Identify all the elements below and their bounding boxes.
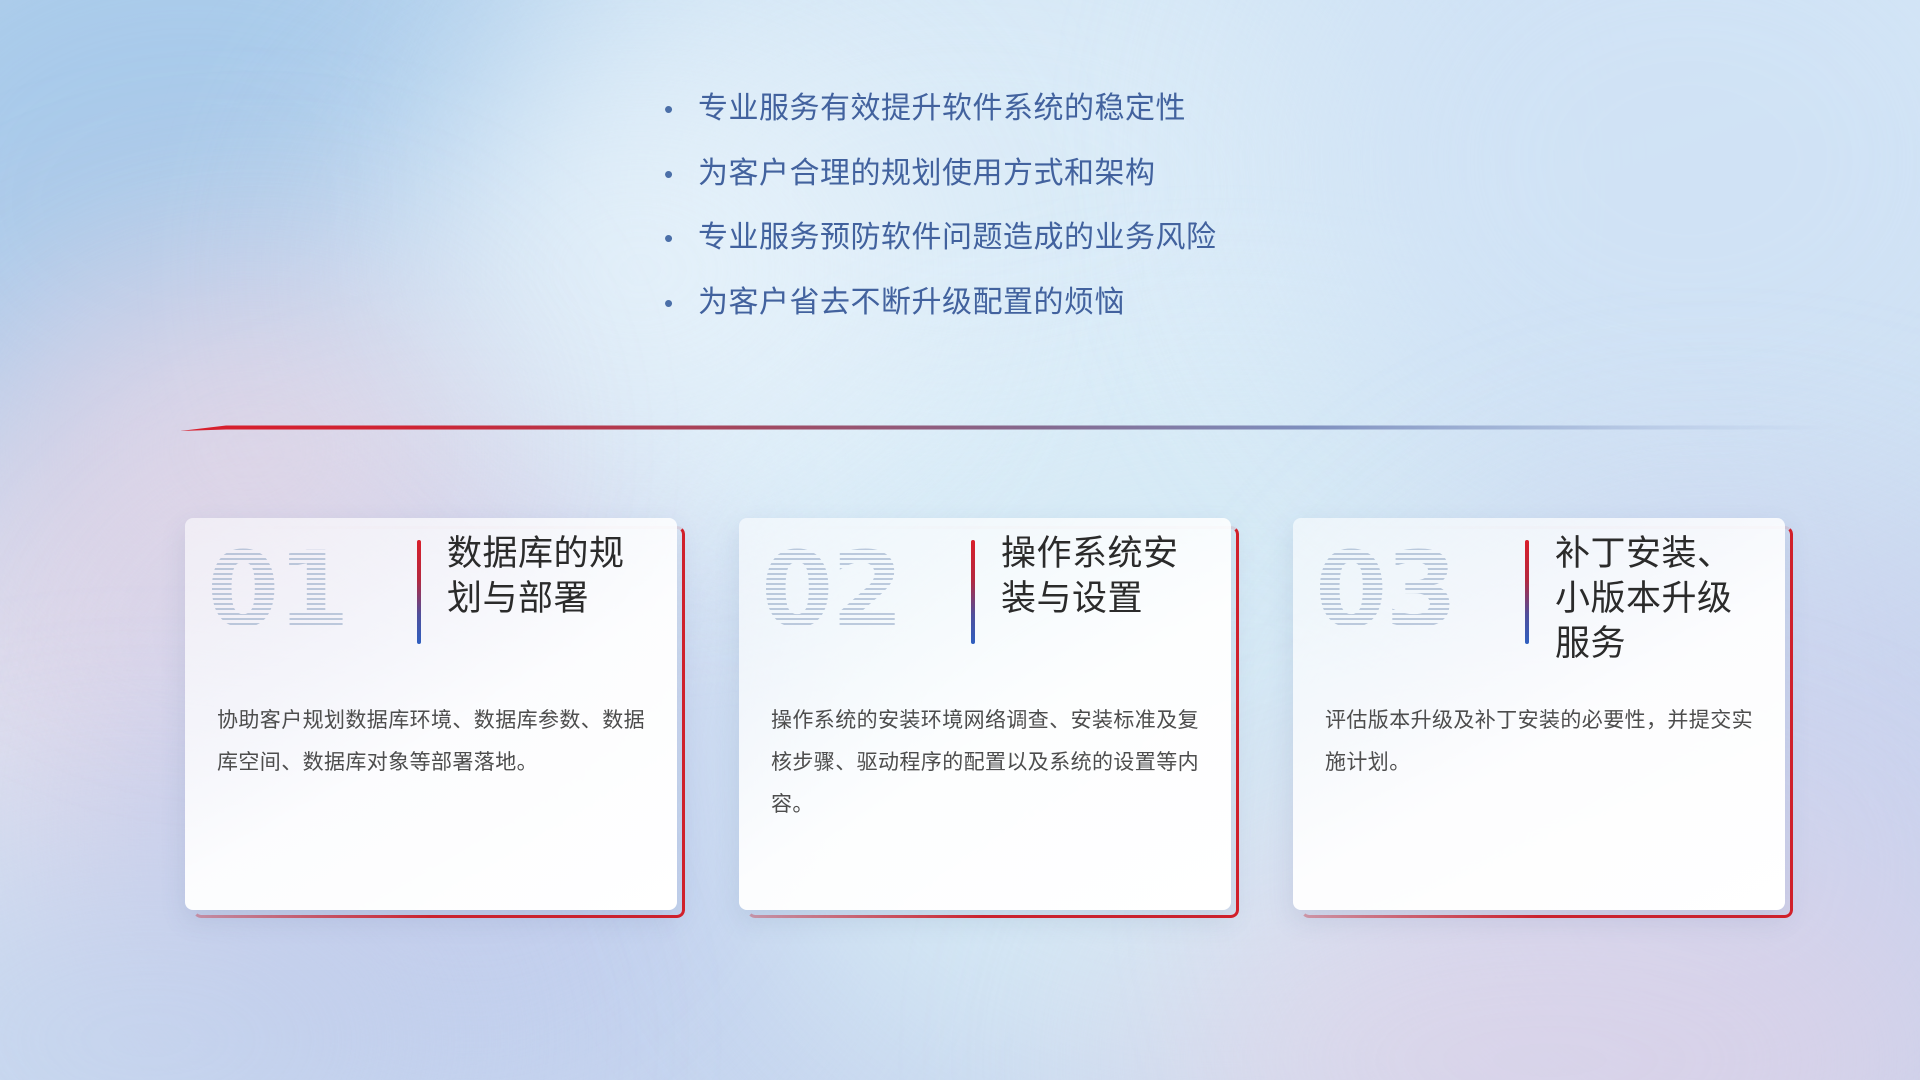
bullet-text: 专业服务预防软件问题造成的业务风险	[698, 221, 1217, 256]
service-card[interactable]: 01 数据库的规划与部署 协助客户规划数据库环境、数据库参数、数据库空间、数据库…	[185, 518, 677, 910]
card-number-watermark: 01	[207, 528, 407, 652]
card-number-watermark: 02	[761, 528, 961, 652]
bullet-dot-icon: •	[660, 225, 698, 251]
card-header: 02 操作系统安装与设置	[739, 518, 1231, 666]
service-card[interactable]: 03 补丁安装、小版本升级服务 评估版本升级及补丁安装的必要性，并提交实施计划。	[1293, 518, 1785, 910]
card-surface: 01 数据库的规划与部署 协助客户规划数据库环境、数据库参数、数据库空间、数据库…	[185, 518, 677, 910]
card-title: 补丁安装、小版本升级服务	[1555, 532, 1767, 666]
card-divider-bar	[417, 540, 421, 644]
list-item: • 为客户合理的规划使用方式和架构	[660, 157, 1420, 192]
card-header: 01 数据库的规划与部署	[185, 518, 677, 666]
bullet-text: 为客户省去不断升级配置的烦恼	[698, 286, 1125, 321]
bullet-text: 为客户合理的规划使用方式和架构	[698, 157, 1156, 192]
list-item: • 专业服务有效提升软件系统的稳定性	[660, 92, 1420, 127]
list-item: • 为客户省去不断升级配置的烦恼	[660, 286, 1420, 321]
card-number-watermark: 03	[1315, 528, 1515, 652]
card-divider-bar	[971, 540, 975, 644]
card-header: 03 补丁安装、小版本升级服务	[1293, 518, 1785, 666]
card-description: 协助客户规划数据库环境、数据库参数、数据库空间、数据库对象等部署落地。	[217, 700, 647, 784]
bullet-dot-icon: •	[660, 290, 698, 316]
card-description: 操作系统的安装环境网络调查、安装标准及复核步骤、驱动程序的配置以及系统的设置等内…	[771, 700, 1201, 826]
card-title: 操作系统安装与设置	[1001, 532, 1213, 622]
card-title: 数据库的规划与部署	[447, 532, 659, 622]
service-card[interactable]: 02 操作系统安装与设置 操作系统的安装环境网络调查、安装标准及复核步骤、驱动程…	[739, 518, 1231, 910]
slide-canvas: • 专业服务有效提升软件系统的稳定性 • 为客户合理的规划使用方式和架构 • 专…	[0, 0, 1920, 1080]
list-item: • 专业服务预防软件问题造成的业务风险	[660, 221, 1420, 256]
card-description: 评估版本升级及补丁安装的必要性，并提交实施计划。	[1325, 700, 1755, 784]
card-surface: 03 补丁安装、小版本升级服务 评估版本升级及补丁安装的必要性，并提交实施计划。	[1293, 518, 1785, 910]
bullet-text: 专业服务有效提升软件系统的稳定性	[698, 92, 1186, 127]
bullet-dot-icon: •	[660, 96, 698, 122]
section-divider	[180, 420, 1840, 434]
card-divider-bar	[1525, 540, 1529, 644]
service-cards-row: 01 数据库的规划与部署 协助客户规划数据库环境、数据库参数、数据库空间、数据库…	[185, 518, 1785, 910]
bullet-dot-icon: •	[660, 161, 698, 187]
card-surface: 02 操作系统安装与设置 操作系统的安装环境网络调查、安装标准及复核步骤、驱动程…	[739, 518, 1231, 910]
benefits-bullet-list: • 专业服务有效提升软件系统的稳定性 • 为客户合理的规划使用方式和架构 • 专…	[660, 92, 1420, 350]
